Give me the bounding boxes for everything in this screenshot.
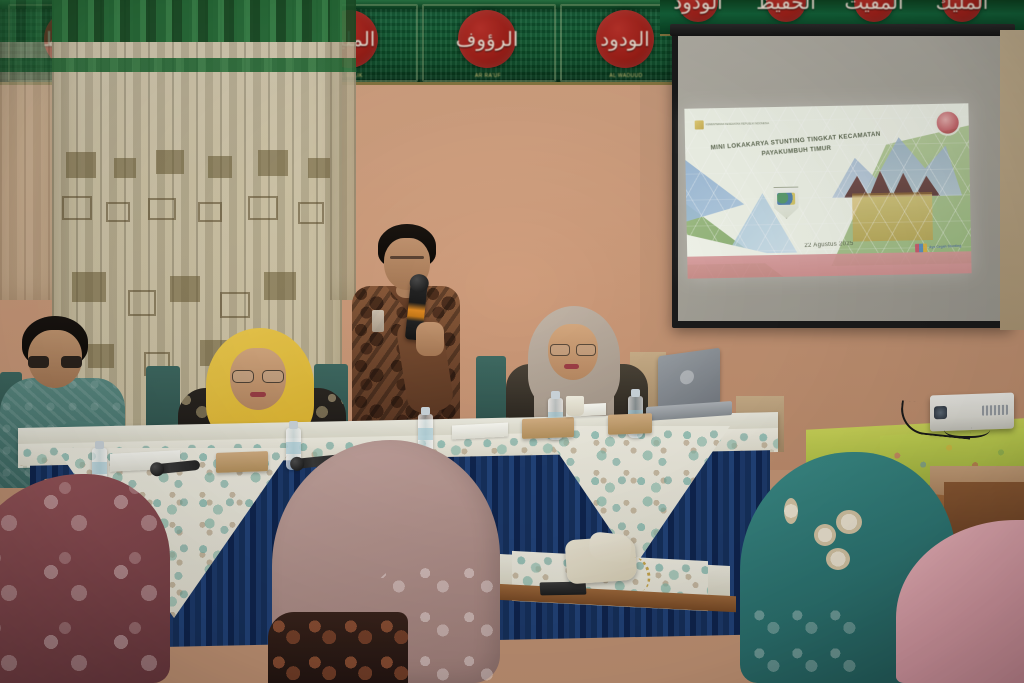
paper-cup [566, 396, 584, 416]
teal-hijab-flower-icon [826, 548, 850, 570]
medallion-glyph: الرؤوف [456, 29, 519, 49]
medallion-glyph: المقيت [845, 0, 904, 12]
projector-vent-icon [982, 405, 1008, 416]
snack-box [522, 417, 574, 439]
speaker-brow [390, 256, 424, 259]
slide-org-logo: KEMENTERIAN KESEHATAN REPUBLIK INDONESIA [695, 119, 769, 129]
banner-caption: AR RA'UF [438, 73, 538, 79]
curtain-centre-strip [330, 0, 356, 300]
window-frame-right [1000, 30, 1024, 330]
slide-campaign-logo-text: Ayo Cegah Stunting [929, 244, 961, 249]
teal-hijab-flower-icon [836, 510, 862, 534]
teal-hijab-flower-icon [814, 524, 836, 546]
curtain-left-edge [0, 0, 58, 300]
woman-yellow-glasses-icon [232, 370, 284, 381]
speaker-name-badge [372, 310, 384, 332]
slide-org-logo-text: KEMENTERIAN KESEHATAN REPUBLIK INDONESIA [706, 122, 769, 126]
pink-hijab-batik-shoulder [268, 612, 408, 683]
presentation-slide: KEMENTERIAN KESEHATAN REPUBLIK INDONESIA… [684, 103, 971, 278]
banner-medallion: الرؤوف [458, 10, 516, 68]
banner-caption: AL WADUUD [576, 73, 676, 79]
paper-document [452, 423, 508, 440]
medallion-glyph: الودود [673, 0, 722, 12]
photo-scene: الحفيظ المقيت المليك الرؤوف الودود AL HA… [0, 0, 1024, 683]
woman-grey-lips [564, 364, 579, 369]
projection-screen-rail [670, 24, 1015, 36]
kemenkes-logo-icon [695, 120, 704, 129]
medallion-glyph: المليك [936, 0, 989, 12]
woman-grey-glasses-icon [550, 344, 596, 354]
smartphone [540, 582, 587, 596]
woman-yellow-lips [250, 392, 266, 397]
audience-maroon-hijab [0, 474, 170, 683]
audience-pink-hijab [272, 440, 500, 683]
medallion-glyph: الحفيظ [756, 0, 816, 12]
speaker-hand [416, 322, 444, 356]
handbag [565, 536, 638, 585]
banner-medallion: الودود [596, 10, 654, 68]
teal-hijab-lace [746, 602, 866, 683]
snack-box [216, 451, 268, 473]
man-left-glasses-icon [28, 356, 82, 368]
snack-box [608, 413, 652, 435]
handbag-flap [588, 531, 633, 563]
teal-hijab-flower-icon [784, 498, 798, 524]
projector-cable-2 [944, 418, 990, 438]
laptop-logo-icon [680, 369, 694, 385]
medallion-glyph: الودود [600, 29, 649, 49]
